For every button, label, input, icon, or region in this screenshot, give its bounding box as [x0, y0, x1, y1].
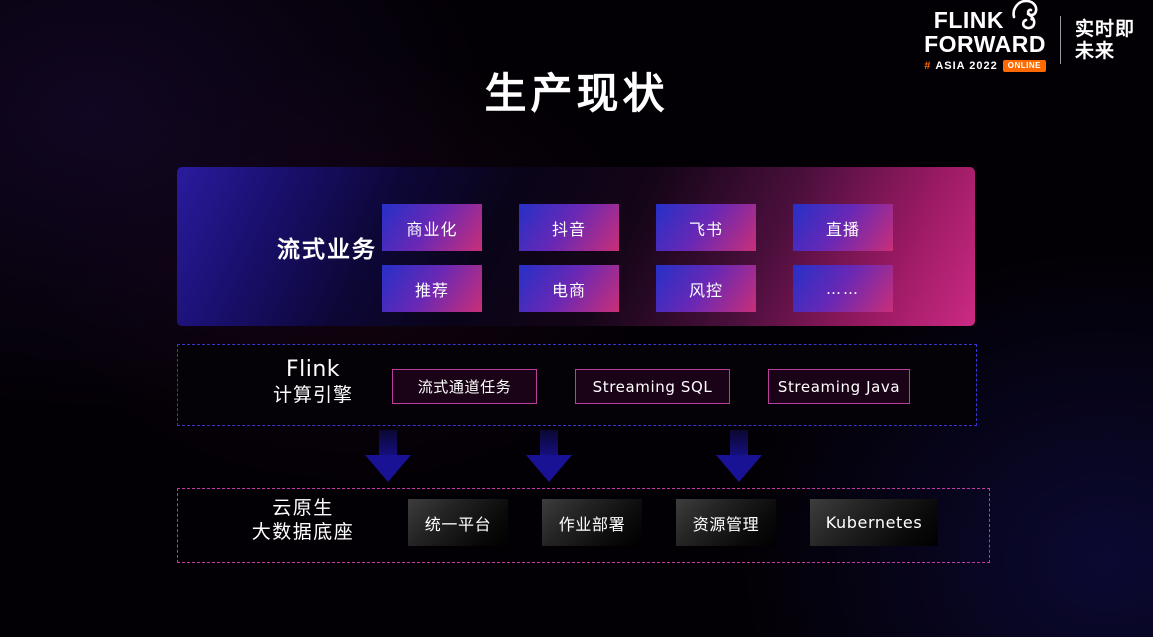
logo-brand-row: FLINK	[934, 8, 1046, 32]
flink-engine-label-cn: 计算引擎	[213, 384, 413, 407]
business-tile[interactable]: 电商	[519, 265, 619, 312]
flink-engine-label: Flink 计算引擎	[213, 357, 413, 407]
arrow-head	[526, 455, 572, 482]
cloud-native-panel: 云原生 大数据底座 统一平台 作业部署 资源管理 Kubernetes	[177, 488, 990, 563]
logo-tagline: 实时即 未来	[1075, 18, 1135, 63]
logo-brand-forward: FORWARD	[924, 33, 1046, 56]
down-arrow-icon	[521, 430, 577, 482]
logo-brand-flink: FLINK	[934, 9, 1004, 32]
arrow-stem	[730, 430, 748, 457]
streaming-business-panel: 流式业务 商业化 抖音 飞书 直播 推荐 电商 风控 ……	[177, 167, 975, 326]
arrow-head	[365, 455, 411, 482]
down-arrow-icon	[360, 430, 416, 482]
business-tile[interactable]: 风控	[656, 265, 756, 312]
logo-divider	[1060, 16, 1061, 64]
arrow-head	[716, 455, 762, 482]
cloud-native-box[interactable]: 统一平台	[408, 499, 508, 546]
arrow-stem	[540, 430, 558, 457]
business-tile[interactable]: 抖音	[519, 204, 619, 251]
logo-tagline-line1: 实时即	[1075, 18, 1135, 40]
page-title: 生产现状	[0, 60, 1153, 121]
flink-engine-box[interactable]: Streaming Java	[768, 369, 910, 404]
arrow-stem	[379, 430, 397, 457]
flink-engine-box[interactable]: 流式通道任务	[392, 369, 537, 404]
tile-row: 商业化 抖音 飞书 直播	[382, 204, 912, 251]
flow-arrows	[177, 430, 975, 486]
tile-row: 推荐 电商 风控 ……	[382, 265, 912, 312]
cloud-native-label-line2: 大数据底座	[198, 521, 408, 545]
squirrel-icon	[1006, 0, 1046, 32]
cloud-native-label: 云原生 大数据底座	[198, 497, 408, 544]
cloud-native-box[interactable]: 作业部署	[542, 499, 642, 546]
cloud-native-box[interactable]: Kubernetes	[810, 499, 938, 546]
cloud-native-label-line1: 云原生	[198, 497, 408, 521]
flink-engine-panel: Flink 计算引擎 流式通道任务 Streaming SQL Streamin…	[177, 344, 977, 426]
cloud-native-box-row: 统一平台 作业部署 资源管理 Kubernetes	[408, 499, 938, 546]
business-tile[interactable]: 直播	[793, 204, 893, 251]
business-tile-ellipsis[interactable]: ……	[793, 265, 893, 312]
flink-engine-box[interactable]: Streaming SQL	[575, 369, 730, 404]
streaming-business-tile-grid: 商业化 抖音 飞书 直播 推荐 电商 风控 ……	[382, 204, 912, 312]
business-tile[interactable]: 推荐	[382, 265, 482, 312]
business-tile[interactable]: 商业化	[382, 204, 482, 251]
business-tile[interactable]: 飞书	[656, 204, 756, 251]
slide-canvas: FLINK FORWARD # ASIA 2022 ONLINE 实时即 未来	[0, 0, 1153, 637]
flink-engine-box-row: 流式通道任务 Streaming SQL Streaming Java	[392, 369, 910, 404]
flink-engine-label-en: Flink	[213, 357, 413, 384]
down-arrow-icon	[711, 430, 767, 482]
cloud-native-box[interactable]: 资源管理	[676, 499, 776, 546]
